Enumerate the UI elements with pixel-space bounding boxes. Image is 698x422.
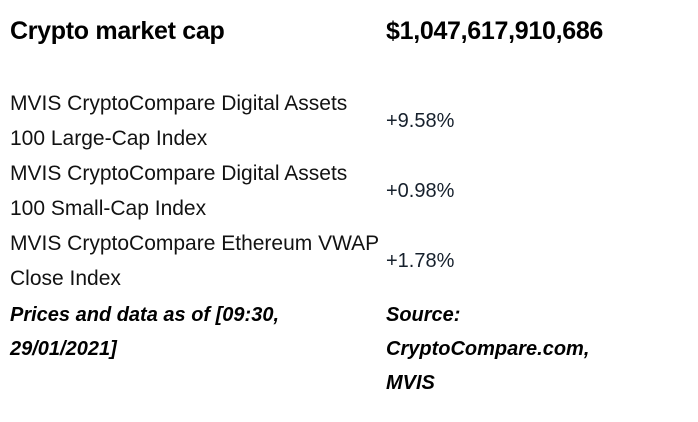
index-change: +1.78% [386, 244, 688, 279]
footer-row: Prices and data as of [09:30, 29/01/2021… [10, 298, 688, 400]
index-row: MVIS CryptoCompare Digital Assets 100 La… [10, 86, 688, 156]
market-cap-value: $1,047,617,910,686 [386, 16, 688, 46]
timestamp-note: Prices and data as of [09:30, 29/01/2021… [10, 298, 386, 366]
source-note: Source: CryptoCompare.com, MVIS [386, 298, 616, 400]
index-change: +0.98% [386, 174, 688, 209]
index-name: MVIS CryptoCompare Digital Assets 100 Sm… [10, 156, 386, 226]
index-row: MVIS CryptoCompare Ethereum VWAP Close I… [10, 226, 688, 296]
index-name: MVIS CryptoCompare Digital Assets 100 La… [10, 86, 386, 156]
page-title: Crypto market cap [10, 16, 386, 46]
index-change: +9.58% [386, 104, 688, 139]
crypto-market-summary: Crypto market cap $1,047,617,910,686 MVI… [0, 0, 698, 422]
index-list: MVIS CryptoCompare Digital Assets 100 La… [10, 86, 688, 296]
index-name: MVIS CryptoCompare Ethereum VWAP Close I… [10, 226, 386, 296]
header-row: Crypto market cap $1,047,617,910,686 [10, 16, 688, 46]
index-row: MVIS CryptoCompare Digital Assets 100 Sm… [10, 156, 688, 226]
